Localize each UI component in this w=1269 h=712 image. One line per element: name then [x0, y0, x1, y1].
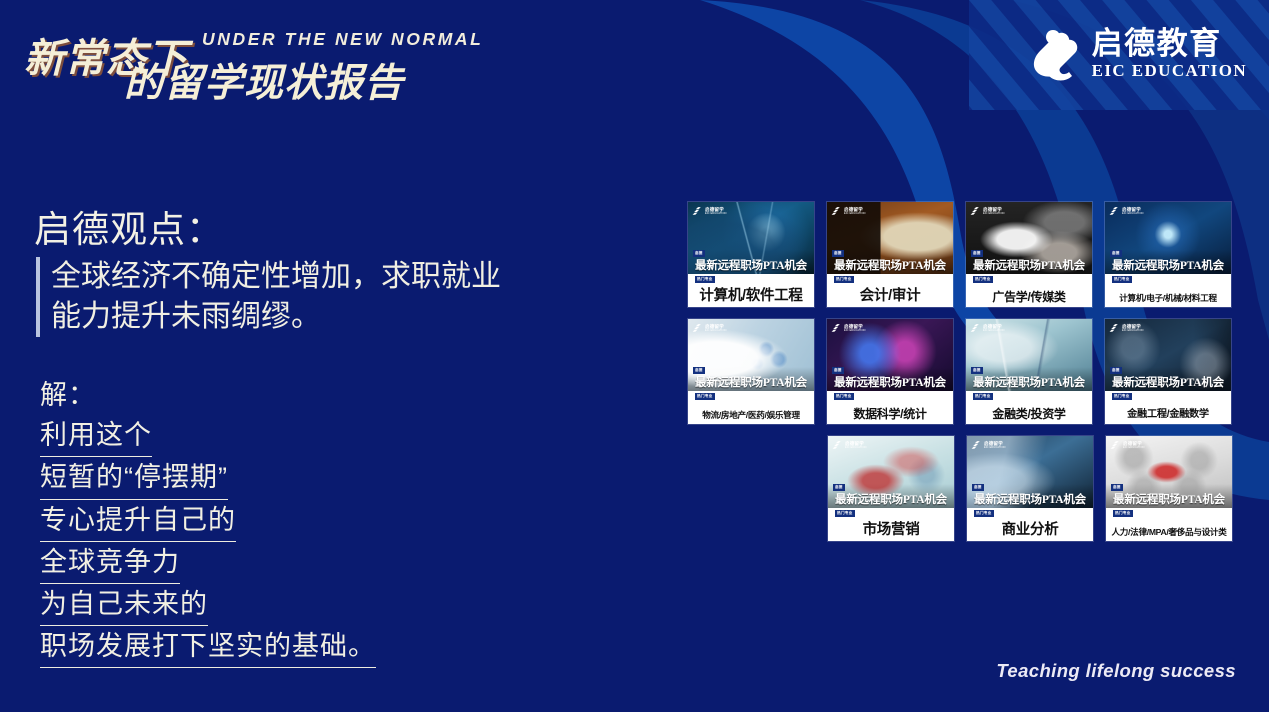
- thumbnail-overlay-title: 最新远程职场PTA机会: [827, 257, 953, 274]
- card-thumbnail[interactable]: 启德留学EIC EDUCATION启德最新远程职场PTA机会: [688, 202, 814, 274]
- viewpoint-heading: 启德观点：: [34, 199, 224, 253]
- thumbnail-badge: 启德: [1110, 367, 1122, 374]
- thumbnail-brand-logo-icon: 启德留学EIC EDUCATION: [692, 206, 726, 217]
- card-caption: 热门专业广告学/传媒类: [966, 274, 1092, 307]
- thumbnail-overlay-title: 最新远程职场PTA机会: [966, 257, 1092, 274]
- card-caption: 热门专业市场营销: [828, 508, 954, 541]
- thumbnail-brand-name: 启德留学EIC EDUCATION: [983, 207, 1004, 215]
- thumbnail-brand-logo-icon: 启德留学EIC EDUCATION: [1109, 206, 1143, 217]
- thumbnail-overlay-title: 最新远程职场PTA机会: [827, 374, 953, 391]
- caption-badge: 热门专业: [973, 276, 993, 283]
- caption-badge: 热门专业: [973, 393, 993, 400]
- major-card[interactable]: 启德留学EIC EDUCATION启德最新远程职场PTA机会热门专业物流/房地产…: [688, 319, 814, 424]
- thumbnail-overlay-title: 最新远程职场PTA机会: [1106, 491, 1232, 508]
- thumbnail-badge: 启德: [832, 250, 844, 257]
- card-thumbnail[interactable]: 启德留学EIC EDUCATION启德最新远程职场PTA机会: [1105, 319, 1231, 391]
- major-card[interactable]: 启德留学EIC EDUCATION启德最新远程职场PTA机会热门专业计算机/电子…: [1105, 202, 1231, 307]
- thumbnail-brand-name: 启德留学EIC EDUCATION: [1122, 324, 1143, 332]
- thumbnail-brand-name: 启德留学EIC EDUCATION: [1123, 441, 1144, 449]
- thumbnail-brand-logo-icon: 启德留学EIC EDUCATION: [832, 440, 866, 451]
- thumbnail-badge: 启德: [971, 367, 983, 374]
- thumbnail-brand-name: 启德留学EIC EDUCATION: [845, 441, 866, 449]
- card-thumbnail[interactable]: 启德留学EIC EDUCATION启德最新远程职场PTA机会: [1105, 202, 1231, 274]
- card-caption: 热门专业数据科学/统计: [827, 391, 953, 424]
- thumbnail-brand-name: 启德留学EIC EDUCATION: [844, 207, 865, 215]
- major-card[interactable]: 启德留学EIC EDUCATION启德最新远程职场PTA机会热门专业会计/审计: [827, 202, 953, 307]
- report-title-block: 新常态下 的留学现状报告 UNDER THE NEW NORMAL: [24, 22, 484, 94]
- card-caption: 热门专业计算机/电子/机械/材料工程: [1105, 274, 1231, 307]
- card-thumbnail[interactable]: 启德留学EIC EDUCATION启德最新远程职场PTA机会: [827, 319, 953, 391]
- thumbnail-brand-logo-icon: 启德留学EIC EDUCATION: [831, 323, 865, 334]
- thumbnail-badge: 启德: [971, 250, 983, 257]
- thumbnail-brand-name: 启德留学EIC EDUCATION: [705, 324, 726, 332]
- caption-badge: 热门专业: [974, 510, 994, 517]
- thumbnail-brand-logo-icon: 启德留学EIC EDUCATION: [970, 206, 1004, 217]
- header: 新常态下 的留学现状报告 UNDER THE NEW NORMAL 启德教育 E…: [0, 0, 1269, 110]
- answer-line-row: 专心提升自己的: [40, 500, 510, 542]
- brand-logo: 启德教育 EIC EDUCATION: [969, 0, 1269, 110]
- answer-lines-list: 利用这个短暂的“停摆期”专心提升自己的全球竞争力为自己未来的职场发展打下坚实的基…: [40, 415, 510, 668]
- thumbnail-overlay-title: 最新远程职场PTA机会: [966, 374, 1092, 391]
- caption-badge: 热门专业: [695, 276, 715, 283]
- major-card[interactable]: 启德留学EIC EDUCATION启德最新远程职场PTA机会热门专业商业分析: [967, 436, 1093, 541]
- answer-line-row: 全球竞争力: [40, 542, 510, 584]
- answer-line-row: 职场发展打下坚实的基础。: [40, 626, 510, 668]
- card-thumbnail[interactable]: 启德留学EIC EDUCATION启德最新远程职场PTA机会: [827, 202, 953, 274]
- answer-line-3: 专心提升自己的: [40, 500, 236, 542]
- answer-line-6: 职场发展打下坚实的基础。: [40, 626, 376, 668]
- card-caption: 热门专业计算机/软件工程: [688, 274, 814, 307]
- thumbnail-badge: 启德: [972, 484, 984, 491]
- major-card[interactable]: 启德留学EIC EDUCATION启德最新远程职场PTA机会热门专业广告学/传媒…: [966, 202, 1092, 307]
- card-caption: 热门专业会计/审计: [827, 274, 953, 307]
- thumbnail-overlay-title: 最新远程职场PTA机会: [688, 257, 814, 274]
- answer-line-1: 利用这个: [40, 415, 152, 457]
- major-cards-grid: 启德留学EIC EDUCATION启德最新远程职场PTA机会热门专业计算机/软件…: [688, 202, 1250, 553]
- answer-line-2: 短暂的“停摆期”: [40, 457, 228, 499]
- thumbnail-overlay-title: 最新远程职场PTA机会: [1105, 257, 1231, 274]
- thumbnail-brand-logo-icon: 启德留学EIC EDUCATION: [831, 206, 865, 217]
- thumbnail-brand-logo-icon: 启德留学EIC EDUCATION: [692, 323, 726, 334]
- answer-line-row: 为自己未来的: [40, 584, 510, 626]
- card-category-label: 物流/房地产/医药/娱乐管理: [702, 411, 800, 420]
- caption-badge: 热门专业: [1112, 393, 1132, 400]
- card-category-label: 商业分析: [1002, 523, 1059, 538]
- logo-name-cn: 启德教育: [1092, 27, 1222, 60]
- thumbnail-overlay-title: 最新远程职场PTA机会: [828, 491, 954, 508]
- thumbnail-brand-name: 启德留学EIC EDUCATION: [844, 324, 865, 332]
- card-caption: 热门专业金融工程/金融数学: [1105, 391, 1231, 424]
- thumbnail-brand-name: 启德留学EIC EDUCATION: [705, 207, 726, 215]
- card-thumbnail[interactable]: 启德留学EIC EDUCATION启德最新远程职场PTA机会: [967, 436, 1093, 508]
- answer-label: 解：: [40, 376, 510, 415]
- thumbnail-brand-logo-icon: 启德留学EIC EDUCATION: [1109, 323, 1143, 334]
- thumbnail-badge: 启德: [693, 250, 705, 257]
- card-caption: 热门专业物流/房地产/医药/娱乐管理: [688, 391, 814, 424]
- report-title-cn-line2: 的留学现状报告: [124, 52, 404, 108]
- major-card[interactable]: 启德留学EIC EDUCATION启德最新远程职场PTA机会热门专业金融类/投资…: [966, 319, 1092, 424]
- major-card[interactable]: 启德留学EIC EDUCATION启德最新远程职场PTA机会热门专业人力/法律/…: [1106, 436, 1232, 541]
- major-card[interactable]: 启德留学EIC EDUCATION启德最新远程职场PTA机会热门专业计算机/软件…: [688, 202, 814, 307]
- answer-line-4: 全球竞争力: [40, 542, 180, 584]
- caption-badge: 热门专业: [834, 393, 854, 400]
- thumbnail-brand-name: 启德留学EIC EDUCATION: [1122, 207, 1143, 215]
- card-category-label: 计算机/软件工程: [699, 289, 802, 304]
- caption-badge: 热门专业: [834, 276, 854, 283]
- caption-badge: 热门专业: [695, 393, 715, 400]
- major-card[interactable]: 启德留学EIC EDUCATION启德最新远程职场PTA机会热门专业市场营销: [828, 436, 954, 541]
- card-caption: 热门专业商业分析: [967, 508, 1093, 541]
- thumbnail-brand-logo-icon: 启德留学EIC EDUCATION: [970, 323, 1004, 334]
- major-card[interactable]: 启德留学EIC EDUCATION启德最新远程职场PTA机会热门专业数据科学/统…: [827, 319, 953, 424]
- card-category-label: 广告学/传媒类: [992, 291, 1065, 303]
- major-card[interactable]: 启德留学EIC EDUCATION启德最新远程职场PTA机会热门专业金融工程/金…: [1105, 319, 1231, 424]
- thumbnail-badge: 启德: [1110, 250, 1122, 257]
- report-title-en: UNDER THE NEW NORMAL: [202, 29, 483, 50]
- viewpoint-body-text: 全球经济不确定性增加，求职就业能力提升未雨绸缪。: [36, 257, 506, 337]
- card-category-label: 金融类/投资学: [992, 408, 1065, 420]
- card-category-label: 金融工程/金融数学: [1127, 410, 1209, 420]
- card-thumbnail[interactable]: 启德留学EIC EDUCATION启德最新远程职场PTA机会: [1106, 436, 1232, 508]
- card-thumbnail[interactable]: 启德留学EIC EDUCATION启德最新远程职场PTA机会: [966, 319, 1092, 391]
- caption-badge: 热门专业: [1112, 276, 1132, 283]
- grid-row-1: 启德留学EIC EDUCATION启德最新远程职场PTA机会热门专业计算机/软件…: [688, 202, 1250, 307]
- card-category-label: 人力/法律/MPA/奢侈品与设计类: [1111, 528, 1226, 537]
- card-thumbnail[interactable]: 启德留学EIC EDUCATION启德最新远程职场PTA机会: [688, 319, 814, 391]
- caption-badge: 热门专业: [835, 510, 855, 517]
- card-category-label: 计算机/电子/机械/材料工程: [1119, 294, 1217, 303]
- footer-tagline: Teaching lifelong success: [996, 660, 1236, 682]
- thumbnail-brand-logo-icon: 启德留学EIC EDUCATION: [971, 440, 1005, 451]
- thumbnail-badge: 启德: [1111, 484, 1123, 491]
- thumbnail-overlay-title: 最新远程职场PTA机会: [1105, 374, 1231, 391]
- logo-name-en: EIC EDUCATION: [1092, 61, 1247, 81]
- eic-logo-mark-icon: [1023, 26, 1079, 82]
- thumbnail-badge: 启德: [832, 367, 844, 374]
- thumbnail-badge: 启德: [833, 484, 845, 491]
- grid-row-3: 启德留学EIC EDUCATION启德最新远程职场PTA机会热门专业市场营销启德…: [688, 436, 1250, 541]
- thumbnail-badge: 启德: [693, 367, 705, 374]
- grid-row-2: 启德留学EIC EDUCATION启德最新远程职场PTA机会热门专业物流/房地产…: [688, 319, 1250, 424]
- card-thumbnail[interactable]: 启德留学EIC EDUCATION启德最新远程职场PTA机会: [828, 436, 954, 508]
- answer-line-5: 为自己未来的: [40, 584, 208, 626]
- thumbnail-brand-name: 启德留学EIC EDUCATION: [983, 324, 1004, 332]
- thumbnail-brand-logo-icon: 启德留学EIC EDUCATION: [1110, 440, 1144, 451]
- thumbnail-brand-name: 启德留学EIC EDUCATION: [984, 441, 1005, 449]
- card-caption: 热门专业人力/法律/MPA/奢侈品与设计类: [1106, 508, 1232, 541]
- card-thumbnail[interactable]: 启德留学EIC EDUCATION启德最新远程职场PTA机会: [966, 202, 1092, 274]
- answer-block: 解： 利用这个短暂的“停摆期”专心提升自己的全球竞争力为自己未来的职场发展打下坚…: [40, 376, 510, 668]
- answer-line-row: 短暂的“停摆期”: [40, 457, 510, 499]
- answer-line-row: 利用这个: [40, 415, 510, 457]
- caption-badge: 热门专业: [1113, 510, 1133, 517]
- card-caption: 热门专业金融类/投资学: [966, 391, 1092, 424]
- card-category-label: 会计/审计: [860, 289, 921, 304]
- thumbnail-overlay-title: 最新远程职场PTA机会: [967, 491, 1093, 508]
- card-category-label: 数据科学/统计: [853, 408, 926, 420]
- thumbnail-overlay-title: 最新远程职场PTA机会: [688, 374, 814, 391]
- card-category-label: 市场营销: [863, 523, 920, 538]
